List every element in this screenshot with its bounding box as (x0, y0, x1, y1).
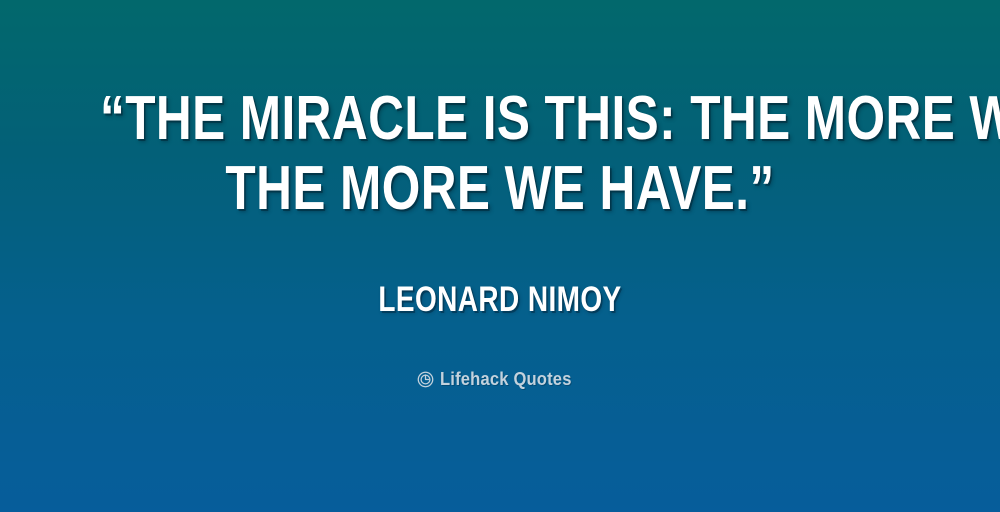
lifehack-circle-logo-icon (417, 371, 434, 388)
quote-line-1: “THE MIRACLE IS THIS: THE MORE WE SHARE (100, 84, 900, 154)
brand-footer: Lifehack Quotes (0, 370, 1000, 388)
author-block: LEONARD NIMOY (0, 281, 1000, 319)
author-name: LEONARD NIMOY (378, 281, 621, 319)
quote-line-2: THE MORE WE HAVE.” (100, 154, 900, 224)
quote-card: “THE MIRACLE IS THIS: THE MORE WE SHARE … (0, 0, 1000, 512)
brand-name: Lifehack Quotes (440, 370, 572, 388)
quote-text-block: “THE MIRACLE IS THIS: THE MORE WE SHARE … (0, 84, 1000, 224)
